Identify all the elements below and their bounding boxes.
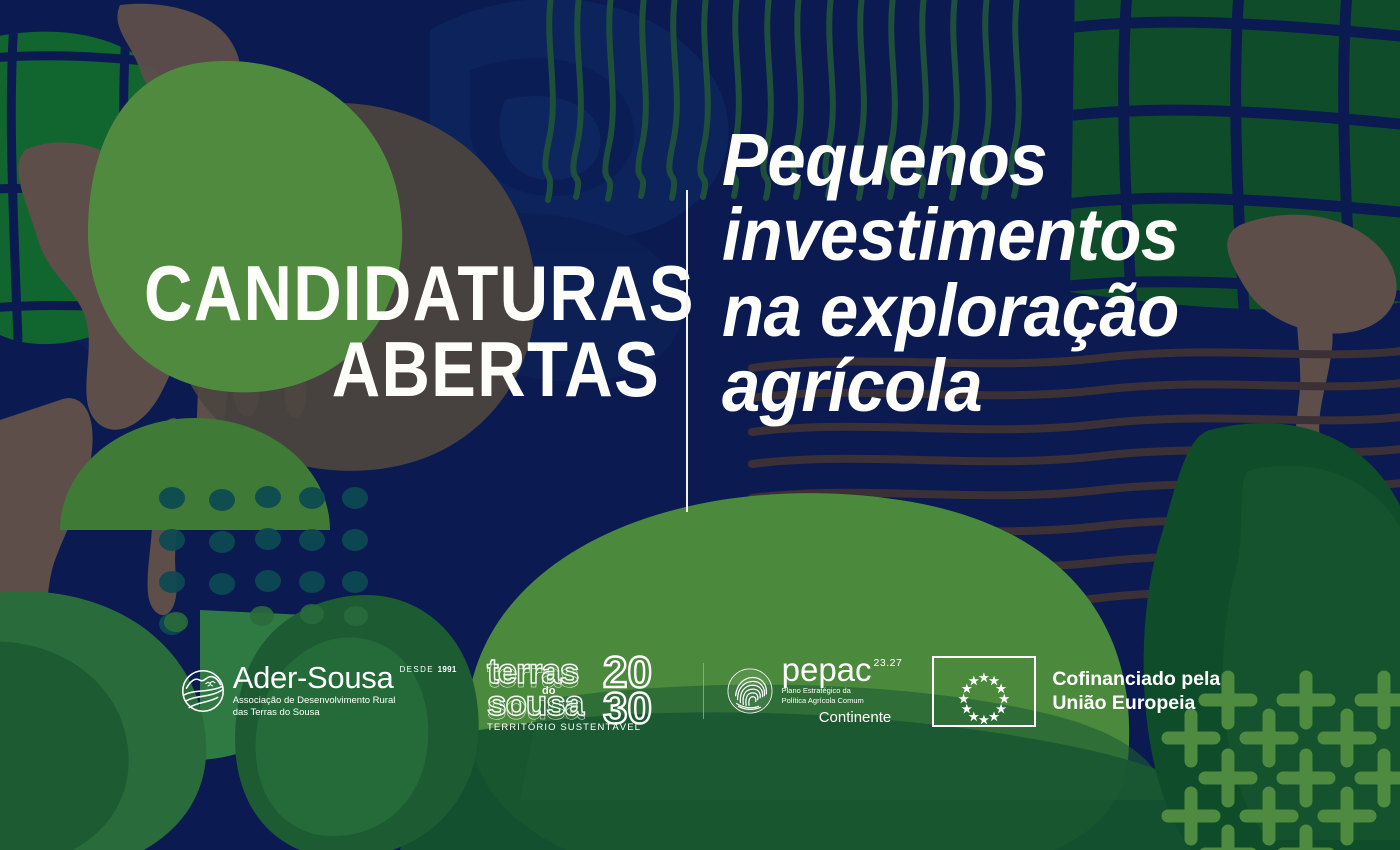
logo-separator <box>703 663 704 719</box>
logo-pepac: pepac 23.27 Plano Estratégico da Polític… <box>726 656 903 727</box>
pepac-years: 23.27 <box>874 657 903 669</box>
mountain-river-circle-emblem <box>180 668 226 714</box>
eu-text-line-2: União Europeia <box>1052 691 1220 715</box>
subhead-line-4: agrícola <box>722 348 1280 423</box>
logo-bar: Ader-Sousa DESDE 1991 Associação de Dese… <box>0 636 1400 746</box>
ader-tagline-line-1: Associação de Desenvolvimento Rural <box>233 695 418 707</box>
vertical-divider <box>686 190 688 512</box>
eu-text-line-1: Cofinanciado pela <box>1052 667 1220 691</box>
pepac-region: Continente <box>793 709 892 726</box>
headline-line-2: ABERTAS <box>144 331 660 407</box>
campaign-subtitle: Pequenos investimentos na exploração agr… <box>722 122 1280 424</box>
pepac-subtitle: Plano Estratégico da Política Agrícola C… <box>782 686 864 706</box>
eu-stars <box>934 658 1034 725</box>
ader-since-label: DESDE <box>399 665 434 674</box>
fingerprint-circle-emblem <box>726 667 774 715</box>
campaign-banner: CANDIDATURAS ABERTAS Pequenos investimen… <box>0 0 1400 850</box>
european-union-flag <box>932 656 1036 727</box>
terras-tagline: TERRITÓRIO SUSTENTÁVEL <box>487 722 641 733</box>
subhead-line-1: Pequenos <box>722 122 1280 197</box>
eu-cofinance-text: Cofinanciado pela União Europeia <box>1052 667 1220 716</box>
logo-terras-do-sousa: terras terras sousa sousa do 20 30 TERRI… <box>485 647 681 735</box>
terras-do: do <box>542 685 556 697</box>
ader-tagline-line-2: das Terras do Sousa <box>233 707 418 719</box>
subhead-line-2: investimentos <box>722 197 1280 272</box>
ader-since: DESDE 1991 <box>399 665 456 674</box>
pepac-subtitle-line-1: Plano Estratégico da <box>782 686 864 696</box>
pepac-subtitle-line-2: Política Agrícola Comum <box>782 696 864 706</box>
subhead-line-3: na exploração <box>722 273 1280 348</box>
ader-tagline: Associação de Desenvolvimento Rural das … <box>233 695 418 719</box>
page-title: CANDIDATURAS ABERTAS <box>144 255 660 408</box>
logo-ader-sousa: Ader-Sousa DESDE 1991 Associação de Dese… <box>180 663 457 719</box>
ader-since-year: 1991 <box>438 665 457 674</box>
pepac-wordmark: pepac <box>782 656 872 684</box>
terras-do-sousa-wordmark: terras terras sousa sousa do 20 30 TERRI… <box>485 647 681 735</box>
logo-european-union: Cofinanciado pela União Europeia <box>932 656 1220 727</box>
ader-wordmark: Ader-Sousa <box>233 663 394 692</box>
headline-line-1: CANDIDATURAS <box>144 249 695 337</box>
